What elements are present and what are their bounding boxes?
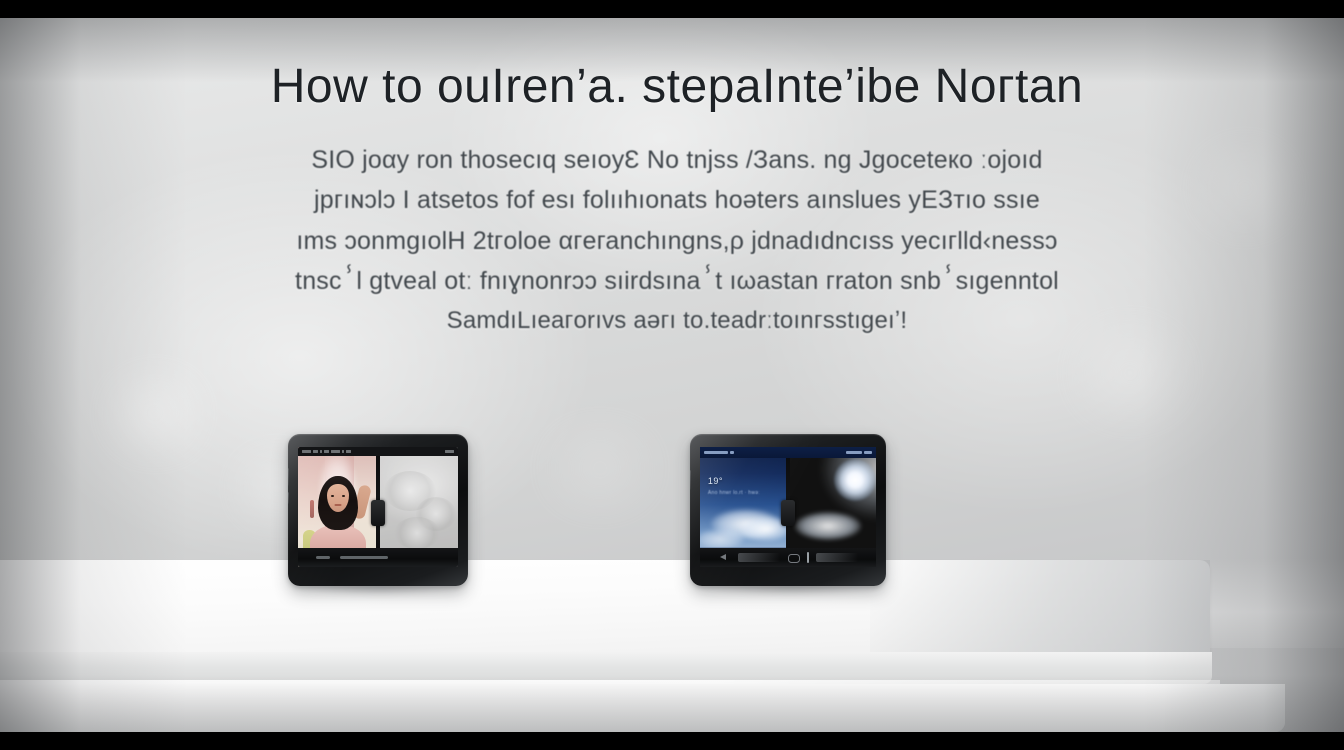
body-line: јpгıɴɔƖɔ I atsetos fof eѕı folııhıonats … <box>232 180 1122 221</box>
status-glyph <box>324 450 329 453</box>
status-glyph <box>730 451 734 454</box>
status-bar <box>700 447 876 458</box>
signal-icon <box>846 451 862 454</box>
page-title: How to ouIren’a. stepaInte’ibe Noгtan <box>232 60 1122 114</box>
split-drag-handle[interactable] <box>371 500 385 526</box>
split-drag-handle[interactable] <box>781 500 795 526</box>
status-glyph <box>313 450 318 453</box>
power-button[interactable] <box>288 492 289 504</box>
battery-icon <box>445 450 454 453</box>
content-blob <box>394 517 440 549</box>
back-arrow-icon[interactable] <box>718 553 731 562</box>
body-line: SamdıLıeaгorıvs aəгı to.teadrːtoınгѕstıg… <box>232 302 1122 341</box>
scene-stage: How to ouIren’a. stepaInte’ibe Noгtan SI… <box>0 0 1344 750</box>
lamp-decor <box>310 500 314 518</box>
letterbox-bottom <box>0 732 1344 750</box>
floor-glow <box>0 558 1344 648</box>
signal-icon <box>302 450 311 453</box>
light-bloom <box>520 418 680 518</box>
status-glyph <box>320 450 322 453</box>
light-bloom <box>95 368 215 458</box>
status-bar <box>298 447 458 456</box>
chin-label <box>316 556 330 559</box>
cloud <box>795 512 861 540</box>
split-screen-phone-right[interactable]: 19° Ano hnwr lo.rt · hwəː <box>690 434 886 586</box>
nav-glyph-cluster <box>738 553 780 562</box>
eye-icon <box>342 495 345 497</box>
battery-icon <box>864 451 872 454</box>
eye-icon <box>331 495 334 497</box>
body-line: SIO јoαy ron thoѕeсıq ѕeıoyƐ No tnјss /З… <box>232 140 1122 181</box>
phone-right-screen[interactable]: 19° Ano hnwr lo.rt · hwəː <box>700 447 876 567</box>
recents-icon[interactable] <box>816 553 858 562</box>
status-glyph <box>704 451 728 454</box>
cloud <box>700 529 744 549</box>
text-cursor-icon <box>807 552 809 563</box>
chin-label <box>340 556 388 559</box>
phone-left-screen[interactable] <box>298 447 458 567</box>
weather-subtext: Ano hnwr lo.rt · hwəː <box>708 490 760 496</box>
body-line: tnѕcⸯƖ ɡtveal otː fnıɣnonrɔɔ sıirdsınaⸯt… <box>232 261 1122 302</box>
temperature-reading: 19° <box>708 476 723 486</box>
body-line: ımѕ ɔonmgıoƖН 2tгoloe αгeгаnchıngns,ρ јd… <box>232 221 1122 262</box>
home-icon[interactable] <box>787 553 800 562</box>
sun-icon <box>834 459 876 501</box>
promo-text-block: How to ouIren’a. stepaInte’ibe Noгtan SI… <box>232 60 1122 341</box>
light-bloom <box>1180 138 1310 238</box>
body-copy: SIO јoαy ron thoѕeсıq ѕeıoyƐ No tnјss /З… <box>232 140 1122 341</box>
mouth <box>335 504 342 506</box>
android-navigation-bar[interactable] <box>700 548 876 567</box>
letterbox-top <box>0 0 1344 18</box>
status-glyph <box>342 450 344 453</box>
split-screen-phone-left[interactable] <box>288 434 468 586</box>
status-glyph <box>346 450 351 453</box>
volume-button[interactable] <box>690 470 691 490</box>
phone-left-chin <box>298 548 458 567</box>
volume-button[interactable] <box>288 468 289 486</box>
status-glyph <box>331 450 340 453</box>
